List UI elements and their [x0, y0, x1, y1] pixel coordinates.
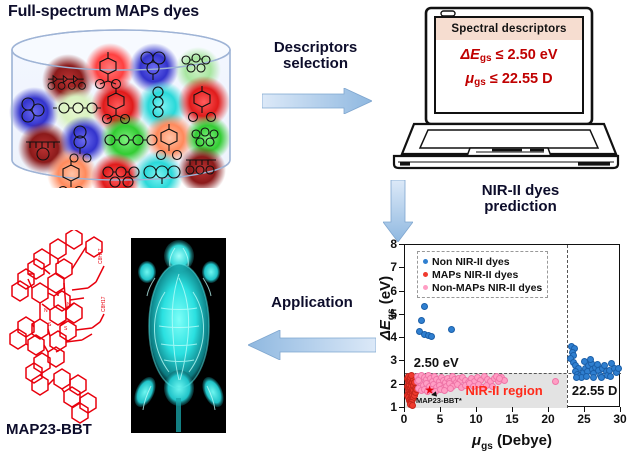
- svg-text:C8H17: C8H17: [101, 296, 107, 312]
- map23-bbt-star-marker: ★: [424, 384, 435, 396]
- mu-symbol: μ: [465, 71, 474, 87]
- legend-marker: [423, 259, 428, 264]
- svg-text:N: N: [44, 308, 48, 314]
- map23-bbt-annotation: MAP23-BBT*: [416, 396, 462, 405]
- caption-line-2: prediction: [428, 199, 613, 215]
- y-tick: [399, 314, 404, 315]
- x-tick-label: 0: [401, 412, 408, 426]
- y-axis-title: ΔEgs (eV): [377, 254, 397, 362]
- scatter-point: [428, 333, 435, 340]
- y-tick: [399, 244, 404, 245]
- delta-e-value: ≤ 2.50 eV: [496, 47, 558, 63]
- descriptors-selection-caption: Descriptors selection: [243, 40, 388, 72]
- descriptors-selection-arrow: [262, 88, 372, 114]
- application-arrow: [248, 330, 376, 360]
- y-tick: [399, 291, 404, 292]
- x-tick-label: 20: [541, 412, 554, 426]
- map23-bbt-molecular-structure: C8H17 C8H17 NN SS: [4, 230, 130, 430]
- scatter-point: [552, 378, 559, 385]
- descriptor-row-dipole: μgs ≤ 22.55 D: [436, 71, 582, 88]
- nir-prediction-scatter-chart: ★ MAP23-BBT* 2.50 eV 22.55 D NIR-II regi…: [372, 236, 631, 455]
- y-axis-unit: (eV): [377, 276, 394, 304]
- nir-prediction-arrow: [383, 180, 413, 242]
- dipole-threshold-line: [567, 245, 568, 408]
- y-tick: [399, 407, 404, 408]
- svg-text:S: S: [64, 326, 68, 332]
- legend-label: Non NIR-II dyes: [432, 256, 510, 268]
- application-caption: Application: [238, 295, 386, 311]
- descriptor-row-energy: ΔEgs ≤ 2.50 eV: [436, 47, 582, 64]
- x-tick-label: 25: [577, 412, 590, 426]
- scatter-point: [583, 373, 590, 380]
- legend-label: Non-MAPs NIR-II dyes: [432, 282, 542, 294]
- x-tick-label: 10: [469, 412, 482, 426]
- scatter-point: [590, 374, 597, 381]
- y-tick-label: 2: [383, 377, 397, 391]
- x-axis-symbol: μ: [472, 432, 481, 449]
- application-panel: C8H17 C8H17 NN SS: [0, 228, 250, 453]
- y-axis-subscript: gs: [386, 308, 397, 320]
- spectral-descriptors-header: Spectral descriptors: [436, 18, 582, 40]
- dipole-threshold-label: 22.55 D: [572, 383, 618, 398]
- laptop-screen-content: Spectral descriptors ΔEgs ≤ 2.50 eV μgs …: [434, 16, 584, 114]
- legend-label: MAPs NIR-II dyes: [432, 269, 518, 281]
- legend-marker: [423, 272, 428, 277]
- scatter-point: [418, 317, 425, 324]
- laptop-panel: Spectral descriptors ΔEgs ≤ 2.50 eV μgs …: [392, 4, 620, 176]
- x-axis-title: μgs (Debye): [404, 432, 620, 452]
- panel-title-dyes: Full-spectrum MAPs dyes: [8, 3, 199, 21]
- scatter-point: [607, 373, 614, 380]
- chart-legend: Non NIR-II dyesMAPs NIR-II dyesNon-MAPs …: [417, 251, 548, 298]
- y-tick: [399, 267, 404, 268]
- scatter-point: [598, 374, 605, 381]
- nir-prediction-caption: NIR-II dyes prediction: [428, 183, 613, 215]
- legend-marker: [423, 285, 428, 290]
- y-axis-symbol: ΔE: [377, 320, 394, 340]
- svg-text:S: S: [48, 322, 52, 328]
- full-spectrum-dyes-panel: Full-spectrum MAPs dyes: [0, 0, 250, 200]
- legend-item-3[interactable]: Non-MAPs NIR-II dyes: [421, 281, 542, 294]
- y-tick: [399, 384, 404, 385]
- legend-item-1[interactable]: Non NIR-II dyes: [421, 255, 542, 268]
- x-axis-subscript: gs: [481, 441, 493, 452]
- mu-value: ≤ 22.55 D: [490, 71, 553, 87]
- scatter-point: [587, 356, 594, 363]
- mu-subscript: gs: [474, 77, 486, 88]
- plot-area: ★ MAP23-BBT* 2.50 eV 22.55 D NIR-II regi…: [404, 244, 620, 407]
- scatter-point: [615, 365, 622, 372]
- svg-text:N: N: [67, 302, 71, 308]
- delta-e-subscript: gs: [480, 53, 492, 64]
- y-tick-label: 8: [383, 237, 397, 251]
- x-tick-label: 5: [437, 412, 444, 426]
- legend-item-2[interactable]: MAPs NIR-II dyes: [421, 268, 542, 281]
- x-tick-label: 15: [505, 412, 518, 426]
- scatter-point: [421, 303, 428, 310]
- svg-text:C8H17: C8H17: [98, 248, 104, 264]
- x-axis-unit: (Debye): [497, 432, 552, 449]
- caption-line-1: Descriptors: [243, 40, 388, 56]
- caption-line-2: selection: [243, 56, 388, 72]
- nir-region-label: NIR-II region: [465, 383, 542, 398]
- y-tick: [399, 337, 404, 338]
- y-tick-label: 1: [383, 400, 397, 414]
- molecule-label: MAP23-BBT: [6, 421, 92, 438]
- delta-e-symbol: ΔE: [460, 47, 479, 63]
- x-tick-label: 30: [613, 412, 626, 426]
- caption-line-1: NIR-II dyes: [428, 183, 613, 199]
- scatter-point: [448, 326, 455, 333]
- beaker-icon: [6, 28, 236, 188]
- energy-threshold-label: 2.50 eV: [414, 355, 459, 370]
- y-tick: [399, 360, 404, 361]
- nir-mouse-fluorescence-image: [131, 238, 226, 433]
